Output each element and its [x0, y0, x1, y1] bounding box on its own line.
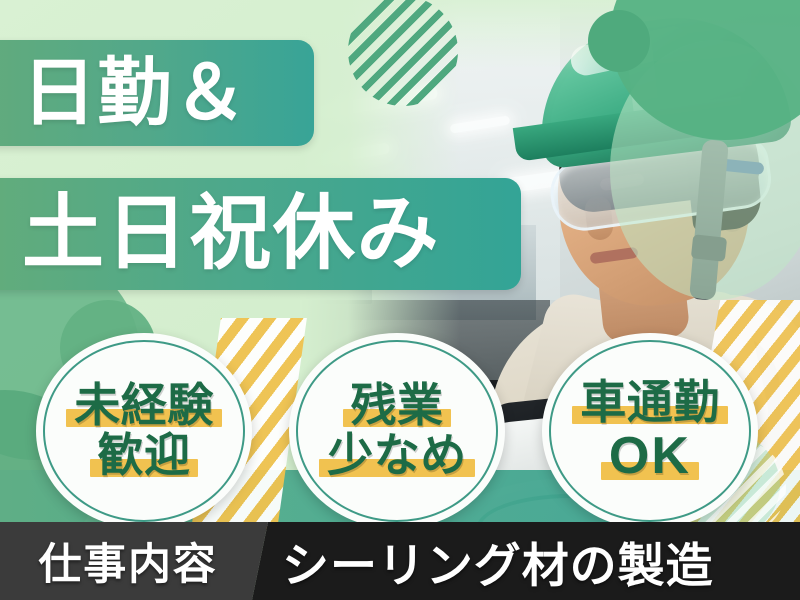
footer-bar: 仕事内容 シーリング材の製造 [0, 522, 800, 600]
badge-line: 未経験 [74, 382, 213, 430]
badge-line: 残業 [351, 382, 444, 430]
decor-striped-circle-top [348, 0, 458, 106]
decor-dot-top-right [588, 10, 650, 72]
footer-label: 仕事内容 [39, 530, 230, 592]
headline-text-2: 土日祝休み [0, 193, 440, 275]
badge-text: OK [609, 427, 691, 485]
job-ad-banner: 日勤＆ 土日祝休み 未経験 歓迎 残業 少なめ 車通勤 OK [0, 0, 800, 600]
footer-label-panel: 仕事内容 [0, 522, 268, 600]
badge-text: 歓迎 [98, 429, 191, 481]
headline-bar-2: 土日祝休み [0, 178, 521, 290]
badge-text: 少なめ [327, 429, 466, 481]
badge-text: 残業 [351, 379, 444, 431]
badge-line: 車通勤 [580, 379, 719, 427]
stripe-pattern [348, 0, 458, 106]
headline-bar-1: 日勤＆ [0, 40, 314, 146]
badge-text: 車通勤 [580, 376, 719, 428]
badge-line: OK [609, 429, 691, 483]
badge-car-commute-ok: 車通勤 OK [542, 333, 758, 529]
badge-line: 少なめ [327, 432, 466, 480]
footer-value: シーリング材の製造 [282, 527, 713, 596]
footer-value-panel: シーリング材の製造 [252, 522, 800, 600]
badge-text: 未経験 [74, 379, 213, 431]
badge-little-overtime: 残業 少なめ [289, 333, 505, 529]
headline-text-1: 日勤＆ [0, 56, 248, 130]
badge-line: 歓迎 [98, 432, 191, 480]
badge-no-experience: 未経験 歓迎 [36, 333, 252, 529]
